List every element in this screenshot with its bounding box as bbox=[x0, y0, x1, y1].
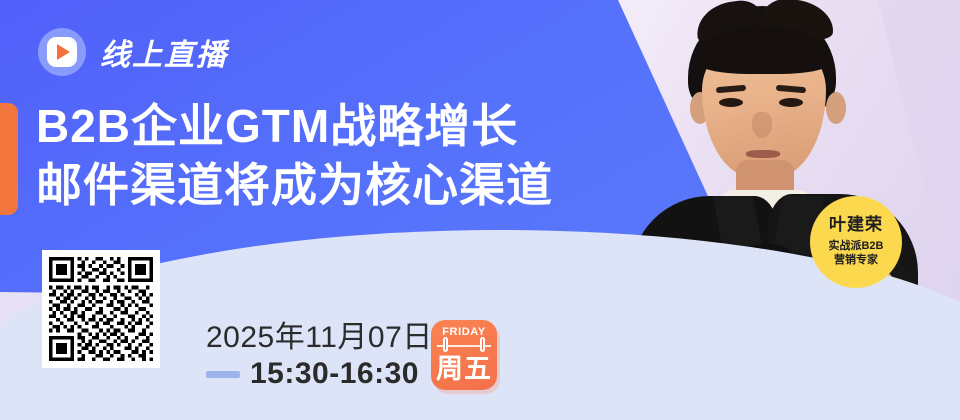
calendar-weekday-cn: 周五 bbox=[431, 344, 497, 388]
play-circle-icon bbox=[38, 28, 86, 76]
event-time-row: 15:30-16:30 bbox=[206, 357, 433, 391]
calendar-weekday-en: FRIDAY bbox=[442, 326, 486, 338]
speaker-mouth bbox=[746, 150, 780, 158]
page-title: B2B企业GTM战略增长 邮件渠道将成为核心渠道 bbox=[36, 97, 553, 215]
speaker-name: 叶建荣 bbox=[829, 216, 883, 235]
live-logo: 线上直播 bbox=[38, 28, 228, 76]
play-icon-plate bbox=[47, 37, 77, 67]
time-dash-marker bbox=[206, 371, 240, 378]
live-logo-label: 线上直播 bbox=[100, 30, 228, 74]
speaker-role-line-2: 营销专家 bbox=[828, 253, 883, 267]
speaker-eye bbox=[779, 98, 803, 107]
qr-code[interactable] bbox=[42, 250, 160, 368]
speaker-role: 实战派B2B 营销专家 bbox=[828, 239, 883, 268]
event-date: 2025年11月07日 bbox=[206, 320, 433, 355]
speaker-nose bbox=[752, 112, 772, 138]
event-time: 15:30-16:30 bbox=[250, 357, 419, 391]
calendar-ring-icon bbox=[480, 337, 485, 352]
qr-code-graphic bbox=[49, 257, 153, 361]
calendar-ring-icon bbox=[443, 337, 448, 352]
play-triangle-icon bbox=[57, 44, 70, 60]
headline-line-2: 邮件渠道将成为核心渠道 bbox=[36, 156, 553, 215]
webinar-banner: 线上直播 B2B企业GTM战略增长 邮件渠道将成为核心渠道 bbox=[0, 0, 960, 420]
orange-accent-bar bbox=[0, 103, 18, 215]
speaker-role-line-1: 实战派B2B bbox=[828, 239, 883, 253]
speaker-eye bbox=[719, 98, 743, 107]
headline-line-1: B2B企业GTM战略增长 bbox=[36, 97, 553, 156]
speaker-ear bbox=[826, 92, 846, 124]
speaker-name-badge: 叶建荣 实战派B2B 营销专家 bbox=[810, 196, 902, 288]
calendar-badge: FRIDAY 周五 bbox=[431, 320, 497, 390]
event-datetime: 2025年11月07日 15:30-16:30 bbox=[206, 320, 433, 391]
calendar-header: FRIDAY bbox=[431, 320, 497, 344]
